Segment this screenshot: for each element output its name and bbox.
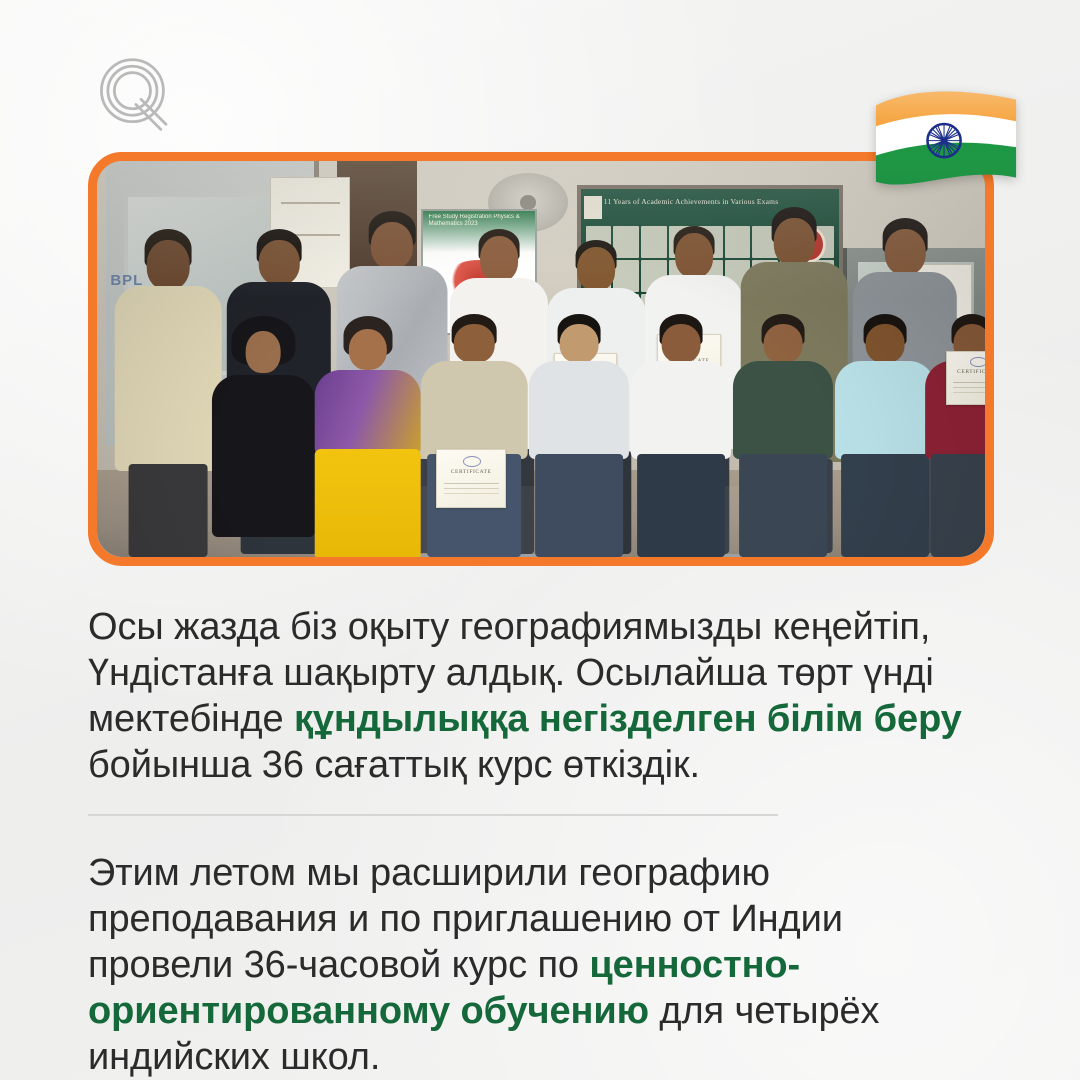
person-front-8: CERTIFICATE (923, 311, 985, 557)
q-logo-icon (92, 52, 178, 138)
person-front-3: CERTIFICATE (421, 311, 528, 557)
person-front-5 (630, 311, 732, 557)
people-group: CERTIFICATE CERTIFICATE (97, 161, 985, 557)
russian-paragraph: Этим летом мы расширили географию препод… (88, 850, 968, 1080)
kazakh-paragraph: Осы жазда біз оқыту географиямызды кеңей… (88, 604, 968, 788)
group-photo: BPL Free Study Registration Physics & Ma… (97, 161, 985, 557)
paragraph-divider (88, 814, 778, 816)
certificate: CERTIFICATE (946, 351, 985, 405)
certificate: CERTIFICATE (436, 449, 506, 508)
person-front-4 (528, 311, 630, 557)
person-front-2 (315, 311, 422, 557)
copy-block: Осы жазда біз оқыту географиямызды кеңей… (88, 604, 968, 1080)
person-front-1 (212, 311, 314, 557)
person-front-7 (834, 311, 936, 557)
india-flag-icon (868, 84, 1024, 206)
person-back-1 (115, 201, 222, 557)
person-front-6 (732, 311, 834, 557)
paragraph-segment: бойынша 36 сағаттық курс өткіздік. (88, 744, 700, 786)
highlighted-phrase: құндылыққа негізделген білім беру (294, 698, 962, 740)
hero-photo-card: BPL Free Study Registration Physics & Ma… (88, 152, 994, 566)
